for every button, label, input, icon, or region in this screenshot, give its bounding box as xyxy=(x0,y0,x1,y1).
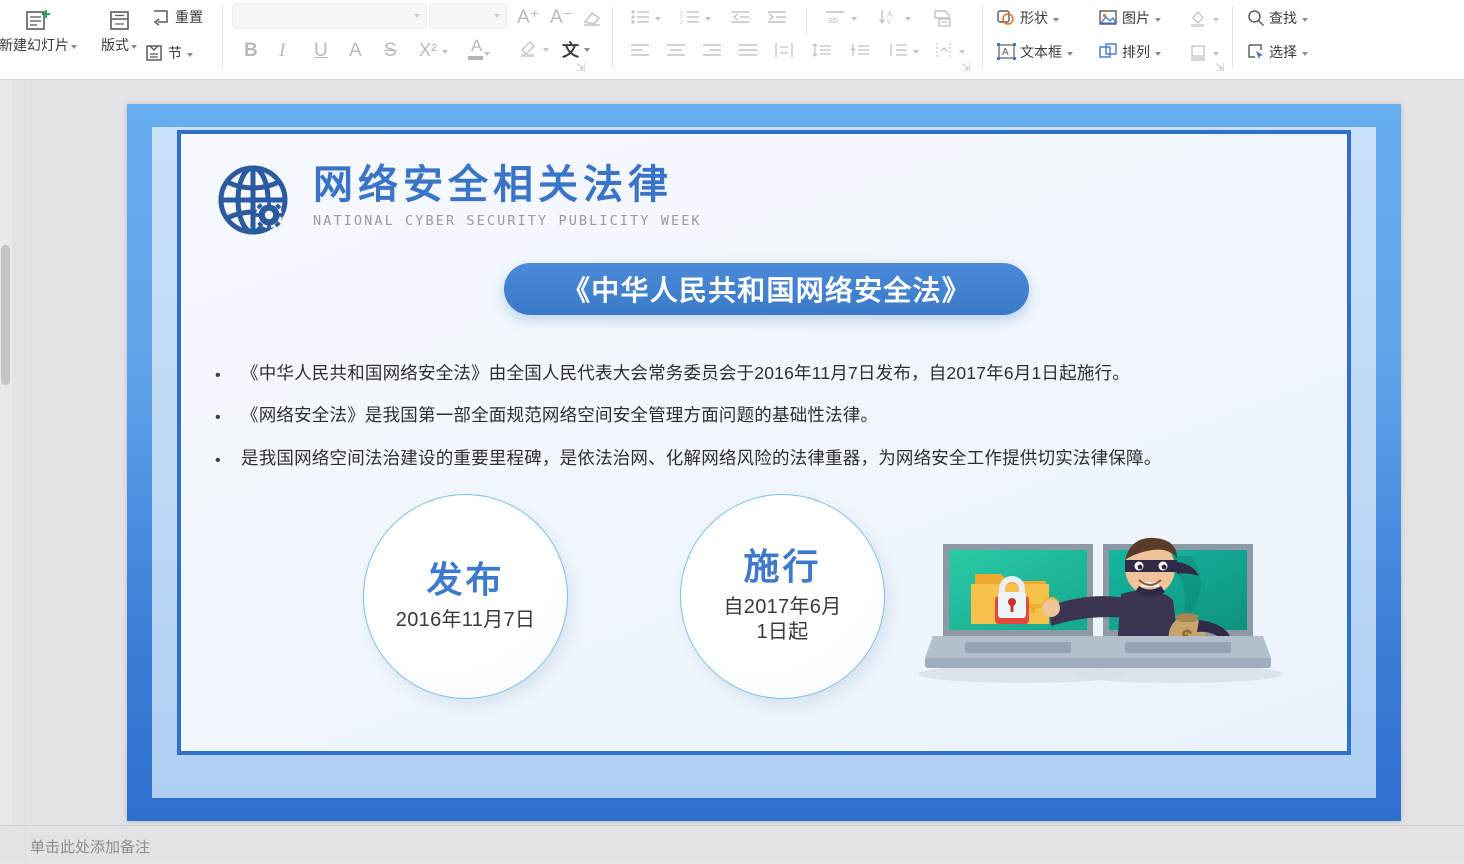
paragraph-dialog-launcher[interactable]: ⇲ xyxy=(960,62,972,74)
clear-format-icon xyxy=(582,8,602,28)
page-subtitle: NATIONAL CYBER SECURITY PUBLICITY WEEK xyxy=(313,213,702,229)
increase-indent-icon xyxy=(767,8,787,26)
text-direction-icon: ab xyxy=(824,8,846,26)
arrange-icon xyxy=(1098,42,1119,62)
chevron-down-icon[interactable] xyxy=(959,50,965,54)
italic-icon: I xyxy=(279,40,285,62)
effective-circle-title: 施行 xyxy=(743,547,821,587)
shrink-font-icon: A⁻ xyxy=(550,6,573,29)
bullet-marker: • xyxy=(215,402,241,426)
vertical-scrollbar-thumb[interactable] xyxy=(1,245,10,385)
chevron-down-icon[interactable] xyxy=(131,45,137,49)
law-title-banner[interactable]: 《中华人民共和国网络安全法》 xyxy=(504,263,1029,315)
chevron-down-icon[interactable] xyxy=(1302,52,1308,56)
shape-label: 形状 xyxy=(1020,11,1048,25)
line-spacing-increase-icon xyxy=(812,42,832,58)
svg-text:ab: ab xyxy=(828,15,838,25)
reset-button[interactable]: 重置 xyxy=(148,4,205,30)
chevron-down-icon[interactable] xyxy=(1067,52,1073,56)
page-title: 网络安全相关法律 xyxy=(313,164,702,206)
superscript-icon: X² xyxy=(419,40,437,61)
bold-icon: B xyxy=(244,40,258,62)
layout-icon xyxy=(104,6,134,36)
new-slide-icon xyxy=(23,6,53,36)
picture-label: 图片 xyxy=(1122,11,1150,25)
font-color-icon: A xyxy=(471,36,482,56)
chevron-down-icon[interactable] xyxy=(1053,18,1059,22)
find-label: 查找 xyxy=(1269,11,1297,25)
shrink-font-button[interactable]: A⁻ xyxy=(548,4,575,31)
underline-button[interactable]: U xyxy=(312,38,330,64)
slide-editing-area: 网络安全相关法律 NATIONAL CYBER SECURITY PUBLICI… xyxy=(0,80,1464,825)
insert-dialog-launcher[interactable]: ⇲ xyxy=(1214,62,1226,74)
line-spacing-icon xyxy=(888,42,908,58)
align-center-icon xyxy=(666,42,686,58)
svg-text:A: A xyxy=(887,10,893,19)
slide-content: 网络安全相关法律 NATIONAL CYBER SECURITY PUBLICI… xyxy=(177,130,1351,755)
search-icon xyxy=(1246,8,1266,28)
picture-icon xyxy=(1098,8,1119,28)
header-text-block: 网络安全相关法律 NATIONAL CYBER SECURITY PUBLICI… xyxy=(313,160,702,229)
chevron-down-icon[interactable] xyxy=(705,17,711,21)
text-box-label: 文本框 xyxy=(1020,45,1062,59)
law-title-text: 《中华人民共和国网络安全法》 xyxy=(562,269,971,309)
globe-gear-icon xyxy=(213,160,297,244)
line-spacing-decrease-icon xyxy=(850,42,870,58)
increase-indent-button[interactable] xyxy=(765,6,789,28)
font-color-button[interactable]: A xyxy=(466,34,495,62)
bullet-list-icon xyxy=(630,8,650,26)
distribute-button[interactable] xyxy=(772,40,796,60)
ribbon-group-insert: 形状 图片 xyxy=(990,0,1230,78)
line-spacing-decrease-button[interactable] xyxy=(848,40,872,60)
underline-icon: U xyxy=(314,40,328,62)
chevron-down-icon[interactable] xyxy=(484,52,490,56)
chevron-down-icon[interactable] xyxy=(655,17,661,21)
publish-date-circle[interactable]: 发布 2016年11月7日 xyxy=(363,494,568,699)
text-box-button[interactable]: A 文本框 xyxy=(994,40,1075,64)
picture-button[interactable]: 图片 xyxy=(1096,6,1163,30)
bullet-marker: • xyxy=(215,445,241,469)
bullet-text: 《中华人民共和国网络安全法》由全国人民代表大会常务委员会于2016年11月7日发… xyxy=(241,360,1130,386)
align-right-button[interactable] xyxy=(700,40,724,60)
notes-placeholder: 单击此处添加备注 xyxy=(30,836,150,857)
select-icon xyxy=(1246,42,1266,62)
new-slide-button[interactable]: 新建幻灯片 xyxy=(0,4,90,54)
select-button[interactable]: 选择 xyxy=(1244,40,1310,64)
grow-font-button[interactable]: A⁺ xyxy=(515,4,542,31)
shape-fill-button[interactable] xyxy=(1186,6,1221,30)
ribbon-group-font: A⁺ A⁻ B I U A S X² xyxy=(230,0,600,78)
arrange-button[interactable]: 排列 xyxy=(1096,40,1163,64)
list-item: • 是我国网络空间法治建设的重要里程碑，是依法治网、化解网络风险的法律重器，为网… xyxy=(215,445,1320,471)
section-button[interactable]: 节 xyxy=(141,40,195,66)
italic-button[interactable]: I xyxy=(277,38,287,64)
align-center-button[interactable] xyxy=(664,40,688,60)
emphasis-mark-button[interactable]: A xyxy=(347,38,364,64)
chevron-down-icon[interactable] xyxy=(1155,52,1161,56)
notes-pane[interactable]: 单击此处添加备注 xyxy=(0,825,1464,863)
line-spacing-button[interactable] xyxy=(886,40,921,60)
align-left-button[interactable] xyxy=(628,40,652,60)
smart-art-icon xyxy=(932,8,954,28)
chevron-down-icon[interactable] xyxy=(913,50,919,54)
bullet-marker: • xyxy=(215,360,241,384)
bullet-text: 是我国网络空间法治建设的重要里程碑，是依法治网、化解网络风险的法律重器，为网络安… xyxy=(241,445,1161,471)
bold-button[interactable]: B xyxy=(242,38,260,64)
left-rail xyxy=(0,80,12,825)
strikethrough-icon: S xyxy=(384,40,397,62)
text-effects-button[interactable]: 文 xyxy=(560,34,592,63)
list-item: • 《中华人民共和国网络安全法》由全国人民代表大会常务委员会于2016年11月7… xyxy=(215,360,1320,386)
ribbon-separator xyxy=(612,6,613,68)
chevron-down-icon[interactable] xyxy=(71,45,77,49)
reset-icon xyxy=(150,6,172,28)
list-item: • 《网络安全法》是我国第一部全面规范网络空间安全管理方面问题的基础性法律。 xyxy=(215,402,1320,428)
svg-text:A: A xyxy=(1002,47,1009,58)
effective-date-circle[interactable]: 施行 自2017年6月 1日起 xyxy=(680,494,885,699)
new-slide-label: 新建幻灯片 xyxy=(0,38,69,52)
align-vertical-icon xyxy=(934,42,954,58)
quick-style-button[interactable] xyxy=(1186,40,1221,64)
select-label: 选择 xyxy=(1269,45,1297,59)
reset-label: 重置 xyxy=(175,10,203,24)
chevron-down-icon[interactable] xyxy=(851,17,857,21)
font-size-combo[interactable] xyxy=(429,3,507,29)
clear-format-button[interactable] xyxy=(580,6,604,30)
text-direction-button[interactable]: ab xyxy=(822,6,859,28)
bullet-list: • 《中华人民共和国网络安全法》由全国人民代表大会常务委员会于2016年11月7… xyxy=(215,360,1320,487)
text-box-icon: A xyxy=(996,42,1017,62)
shape-icon xyxy=(996,8,1017,28)
align-right-icon xyxy=(702,42,722,58)
chevron-down-icon[interactable] xyxy=(494,14,500,18)
bullet-list-button[interactable] xyxy=(628,6,663,28)
section-label: 节 xyxy=(168,46,182,60)
text-effects-icon: 文 xyxy=(562,36,579,61)
ribbon-group-slides: 新建幻灯片 版式 xyxy=(0,0,224,78)
align-left-icon xyxy=(630,42,650,58)
sort-button[interactable]: A v xyxy=(876,6,913,28)
sort-icon: A v xyxy=(878,8,900,26)
find-button[interactable]: 查找 xyxy=(1244,6,1310,30)
chevron-down-icon[interactable] xyxy=(1213,18,1219,22)
chevron-down-icon[interactable] xyxy=(1302,18,1308,22)
hacker-stealing-data-illustration[interactable]: $ xyxy=(903,516,1293,691)
arrange-label: 排列 xyxy=(1122,45,1150,59)
ribbon-separator xyxy=(806,8,807,34)
shape-fill-icon xyxy=(1188,8,1208,28)
chevron-down-icon[interactable] xyxy=(187,53,193,57)
numbered-list-button[interactable]: 1 2 3 xyxy=(678,6,713,28)
slide-header: 网络安全相关法律 NATIONAL CYBER SECURITY PUBLICI… xyxy=(213,160,702,244)
align-justify-button[interactable] xyxy=(736,40,760,60)
chevron-down-icon[interactable] xyxy=(1213,52,1219,56)
smart-art-button[interactable] xyxy=(930,6,956,30)
numbered-list-icon: 1 2 3 xyxy=(680,8,700,26)
slide-canvas[interactable]: 网络安全相关法律 NATIONAL CYBER SECURITY PUBLICI… xyxy=(127,104,1401,821)
align-vertical-button[interactable] xyxy=(932,40,967,60)
publish-circle-date: 2016年11月7日 xyxy=(396,608,535,634)
chevron-down-icon[interactable] xyxy=(1155,18,1161,22)
chevron-down-icon[interactable] xyxy=(414,14,420,18)
chevron-down-icon[interactable] xyxy=(543,48,549,52)
decrease-indent-button[interactable] xyxy=(728,6,752,28)
chevron-down-icon[interactable] xyxy=(442,50,448,54)
ribbon-separator xyxy=(1232,6,1233,68)
layout-label: 版式 xyxy=(101,38,129,52)
distribute-icon xyxy=(774,42,794,58)
section-icon xyxy=(143,42,165,64)
align-justify-icon xyxy=(738,42,758,58)
strikethrough-button[interactable]: S xyxy=(382,38,399,64)
font-color-swatch xyxy=(468,56,483,60)
line-spacing-increase-button[interactable] xyxy=(810,40,834,60)
ribbon-separator xyxy=(982,6,983,68)
emphasis-mark-icon: A xyxy=(349,40,362,62)
publish-circle-title: 发布 xyxy=(426,560,504,600)
svg-text:3: 3 xyxy=(680,20,683,26)
panel-divider xyxy=(25,80,26,825)
font-dialog-launcher[interactable]: ⇲ xyxy=(575,62,587,74)
ribbon-toolbar: 新建幻灯片 版式 xyxy=(0,0,1464,80)
highlight-color-button[interactable] xyxy=(516,36,551,60)
ribbon-group-editing: 查找 选择 xyxy=(1240,0,1464,78)
bullet-text: 《网络安全法》是我国第一部全面规范网络空间安全管理方面问题的基础性法律。 xyxy=(241,402,878,428)
notes-divider xyxy=(25,826,26,864)
chevron-down-icon[interactable] xyxy=(905,17,911,21)
ribbon-separator xyxy=(222,6,223,68)
font-name-combo[interactable] xyxy=(232,3,427,29)
effective-circle-date: 自2017年6月 1日起 xyxy=(723,595,841,646)
decrease-indent-icon xyxy=(730,8,750,26)
highlight-color-icon xyxy=(518,38,538,58)
ribbon-group-paragraph: 1 2 3 xyxy=(620,0,980,78)
chevron-down-icon[interactable] xyxy=(584,48,590,52)
superscript-button[interactable]: X² xyxy=(417,38,450,63)
shape-button[interactable]: 形状 xyxy=(994,6,1061,30)
grow-font-icon: A⁺ xyxy=(517,6,540,29)
svg-text:v: v xyxy=(887,19,891,26)
quick-style-icon xyxy=(1188,42,1208,62)
